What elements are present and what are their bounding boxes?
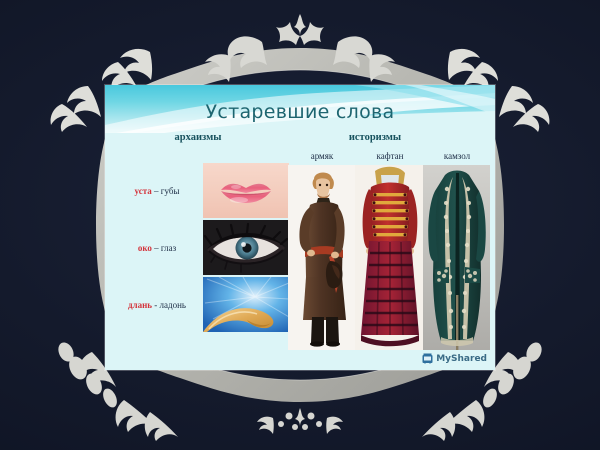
archaism-row: уста – губы [111,163,291,218]
archaism-separator: – [152,186,161,196]
slide-title: Устаревшие слова [105,101,495,123]
historicism-label: кафтан [356,151,424,161]
kaftan-costume-photo [355,165,423,350]
armyak-costume-photo [288,165,355,350]
watermark-text: MyShared [436,354,487,364]
archaic-word: уста [135,186,152,196]
historicism-label: армяк [288,151,356,161]
kamzol-costume-photo [423,165,490,350]
eye-photo [203,220,289,275]
archaism-row: око – глаз [111,220,291,275]
historicism-figures [288,165,490,350]
archaism-separator: - [152,300,160,310]
archaism-label: око – глаз [111,243,203,253]
archaism-meaning: глаз [161,243,176,253]
myshared-logo-icon [422,353,433,364]
archaism-label: уста – губы [111,186,203,196]
historicism-label: камзол [424,151,490,161]
lips-photo [203,163,289,218]
slide-header-band: Устаревшие слова [105,85,495,133]
palm-photo [203,277,289,332]
archaism-meaning: ладонь [160,300,187,310]
frame-ornament-bottom-center [257,408,343,434]
archaism-row: длань - ладонь [111,277,291,332]
watermark: MyShared [422,353,487,364]
archaic-word: око [138,243,152,253]
archaisms-heading: архаизмы [143,132,253,143]
archaism-separator: – [152,243,161,253]
archaism-label: длань - ладонь [111,300,203,310]
archaic-word: длань [128,300,152,310]
historicisms-heading: историзмы [315,132,435,143]
presentation-slide: Устаревшие слова архаизмы историзмы уста… [105,85,495,370]
slide-canvas: Устаревшие слова архаизмы историзмы уста… [0,0,600,450]
archaism-meaning: губы [161,186,180,196]
